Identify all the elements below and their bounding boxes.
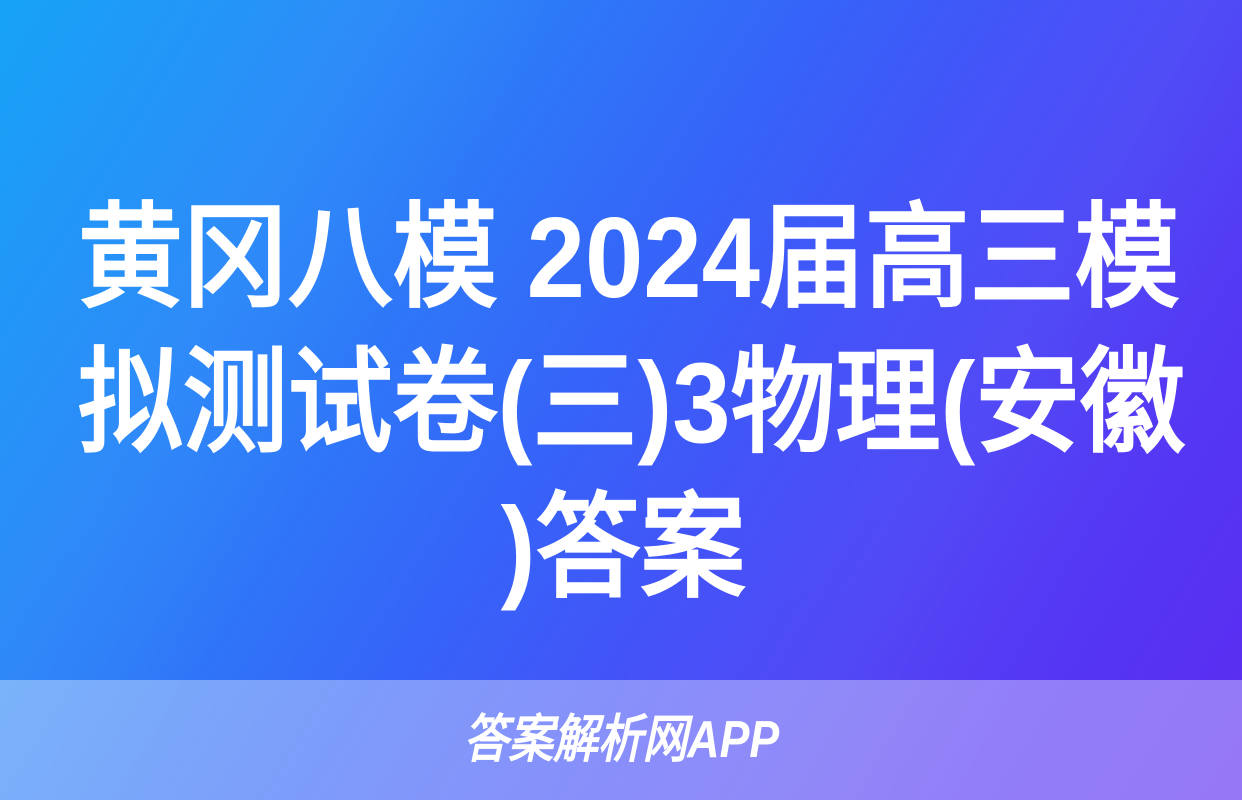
- page-title: 黄冈八模 2024届高三模 拟测试卷(三)3物理(安徽 )答案: [78, 186, 1168, 626]
- app-brand-banner[interactable]: 答案解析网APP: [0, 680, 1242, 800]
- title-line-1: 黄冈八模 2024届高三模: [78, 186, 1081, 331]
- app-brand-label: 答案解析网APP: [463, 714, 779, 766]
- title-line-2: 拟测试卷(三)3物理(安徽: [78, 331, 1081, 476]
- poster-card: 黄冈八模 2024届高三模 拟测试卷(三)3物理(安徽 )答案 答案解析网APP: [0, 0, 1242, 800]
- title-line-3: )答案: [122, 476, 1125, 621]
